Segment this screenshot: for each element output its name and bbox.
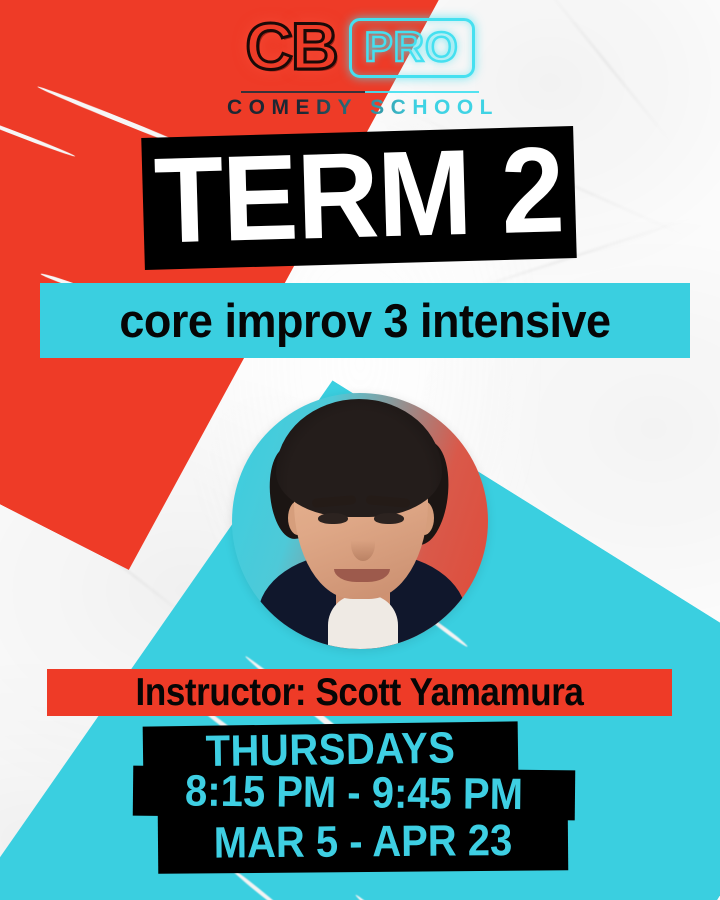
instructor-portrait xyxy=(232,393,488,649)
portrait-eye-right xyxy=(374,513,404,524)
portrait-nose xyxy=(351,527,375,561)
poster-canvas: CB PRO COMEDY SCHOOL TERM 2 core improv … xyxy=(0,0,720,900)
pro-badge: PRO xyxy=(349,18,475,78)
portrait-shirt xyxy=(328,595,398,649)
headline-banner: TERM 2 xyxy=(141,126,577,270)
brand-tagline: COMEDY SCHOOL xyxy=(0,96,720,120)
schedule-dates-text: MAR 5 - APR 23 xyxy=(214,819,513,866)
logo-mark-row: CB PRO xyxy=(0,10,720,86)
headline-text: TERM 2 xyxy=(153,135,565,260)
cb-wordmark: CB xyxy=(245,13,336,83)
logo-divider-rule xyxy=(241,91,479,93)
instructor-text: Instructor: Scott Yamamura xyxy=(136,673,584,712)
portrait-eye-left xyxy=(318,513,348,524)
schedule-dates-block: MAR 5 - APR 23 xyxy=(158,810,569,874)
subtitle-banner: core improv 3 intensive xyxy=(40,283,690,358)
schedule-time-text: 8:15 PM - 9:45 PM xyxy=(185,769,523,817)
pro-label: PRO xyxy=(365,23,459,70)
brand-logo: CB PRO COMEDY SCHOOL xyxy=(0,10,720,120)
portrait-hair xyxy=(276,399,442,517)
instructor-banner: Instructor: Scott Yamamura xyxy=(47,669,672,716)
subtitle-text: core improv 3 intensive xyxy=(119,297,610,345)
